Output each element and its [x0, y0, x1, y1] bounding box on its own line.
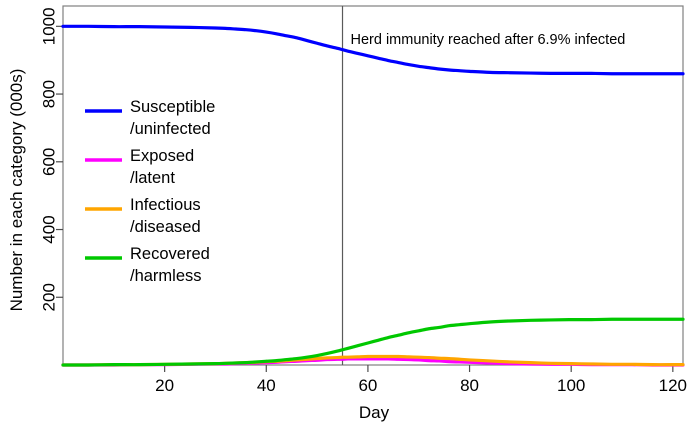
- chart-legend: Susceptible/uninfectedExposed/latentInfe…: [85, 98, 215, 285]
- legend-label-secondary: /harmless: [130, 267, 202, 285]
- y-tick-label: 1000: [39, 7, 58, 45]
- y-tick-label: 600: [39, 148, 58, 176]
- chart-container: Herd immunity reached after 6.9% infecte…: [0, 0, 700, 430]
- x-tick-label: 80: [460, 376, 479, 395]
- y-tick-label: 400: [39, 215, 58, 243]
- x-tick-label: 20: [155, 376, 174, 395]
- x-tick-label: 40: [257, 376, 276, 395]
- x-tick-label: 100: [557, 376, 585, 395]
- chart-plot-area: Herd immunity reached after 6.9% infecte…: [0, 0, 700, 430]
- x-axis-title: Day: [359, 403, 390, 422]
- legend-label-secondary: /latent: [130, 169, 175, 187]
- legend-label-secondary: /uninfected: [130, 120, 211, 138]
- x-tick-label: 60: [358, 376, 377, 395]
- y-tick-labels: 2004006008001000: [39, 7, 58, 311]
- herd-immunity-annotation: Herd immunity reached after 6.9% infecte…: [351, 32, 626, 48]
- y-axis-title: Number in each category (000s): [7, 69, 26, 312]
- x-tick-labels: 20406080100120: [155, 376, 687, 395]
- y-tick-label: 800: [39, 80, 58, 108]
- legend-label-secondary: /diseased: [130, 218, 201, 236]
- legend-label-primary: Susceptible: [130, 98, 215, 116]
- legend-label-primary: Recovered: [130, 245, 210, 263]
- legend-label-primary: Exposed: [130, 147, 194, 165]
- x-tick-label: 120: [659, 376, 687, 395]
- legend-label-primary: Infectious: [130, 196, 201, 214]
- y-tick-label: 200: [39, 283, 58, 311]
